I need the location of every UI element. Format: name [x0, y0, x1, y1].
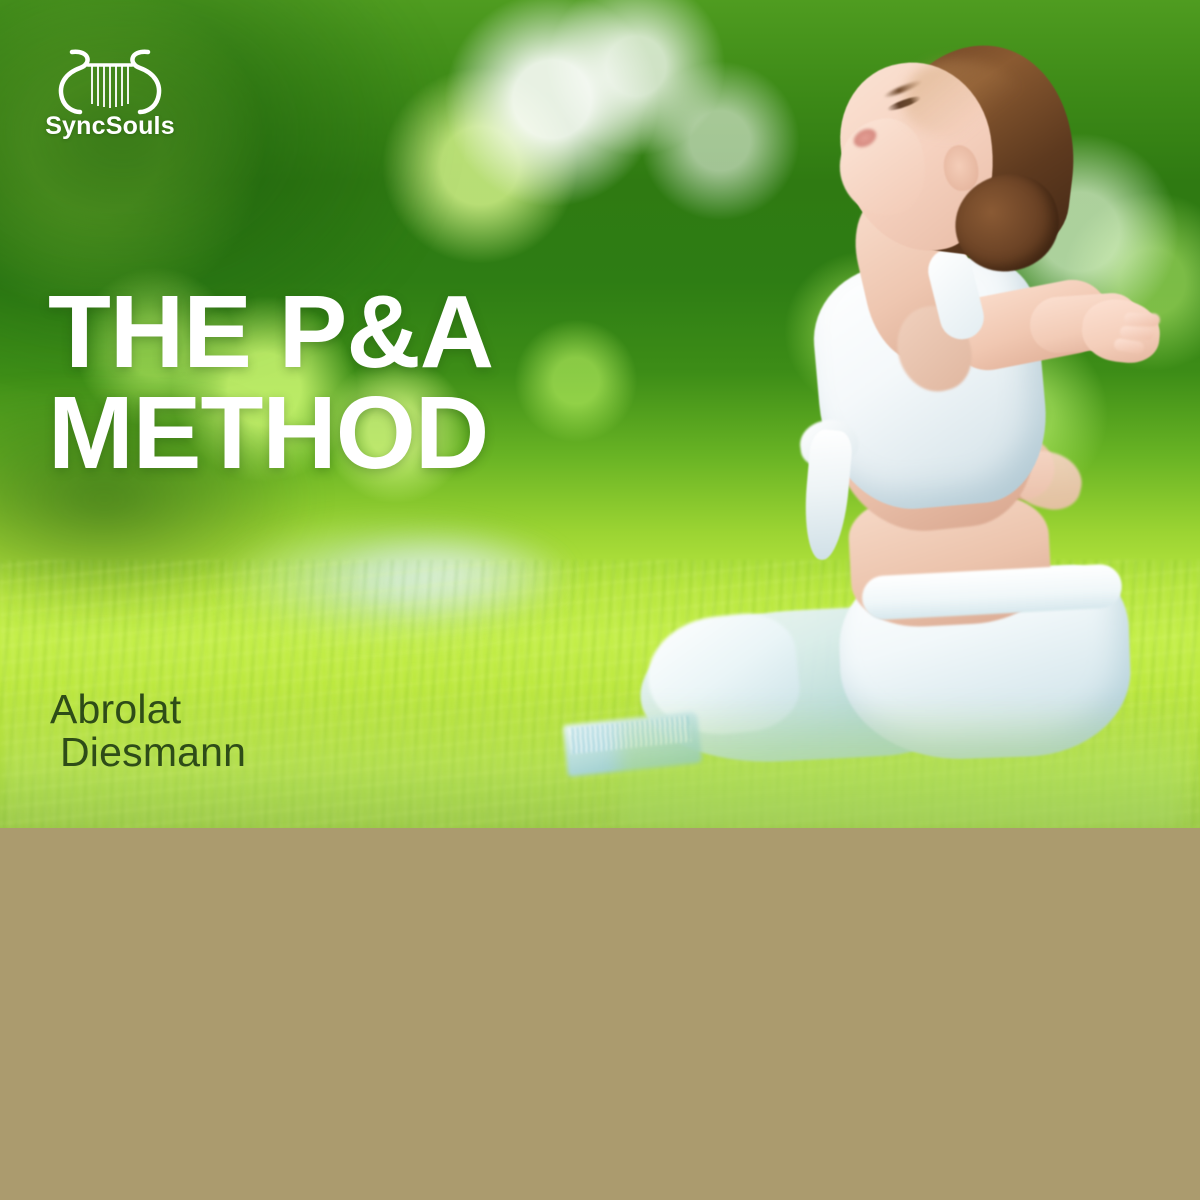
headline-line-2: METHOD: [48, 383, 668, 484]
finger-1: [1124, 312, 1160, 326]
brand-name: SyncSouls: [40, 112, 180, 141]
headline-line-1: THE P&A: [48, 282, 668, 383]
lyre-harp-icon: [40, 40, 180, 120]
author-name-1: Abrolat: [50, 688, 246, 731]
album-cover: SyncSouls THE P&A METHOD Abrolat Diesman…: [0, 0, 1200, 1200]
cover-photo: SyncSouls THE P&A METHOD Abrolat Diesman…: [0, 0, 1200, 828]
syncsouls-logo[interactable]: SyncSouls: [40, 40, 180, 150]
author-name-2: Diesmann: [60, 731, 246, 774]
grass-foreground-blend: [620, 700, 1180, 828]
headline: THE P&A METHOD: [48, 282, 668, 484]
title-band: Highly effective & sustainable deep rela…: [0, 828, 1200, 1200]
authors: Abrolat Diesmann: [50, 688, 246, 774]
